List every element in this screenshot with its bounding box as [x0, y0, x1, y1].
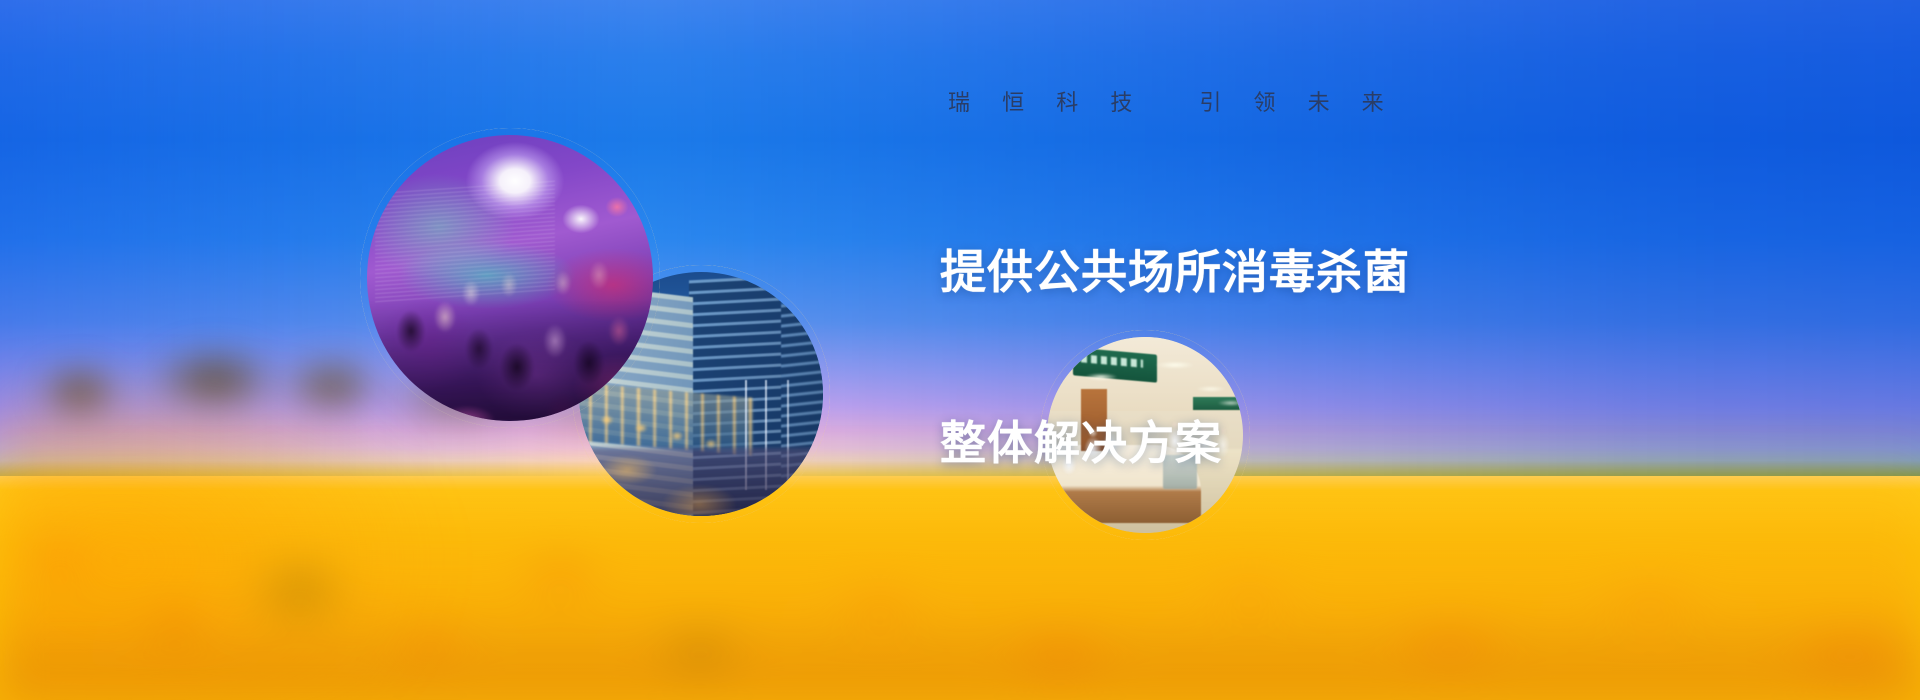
eyebrow-slogan: 引 领 未 来 [1199, 92, 1396, 114]
eyebrow-brand: 瑞 恒 科 技 [948, 92, 1145, 114]
banner-copy: 瑞 恒 科 技 引 领 未 来 提供公共场所消毒杀菌 整体解决方案 [940, 92, 1410, 586]
hero-banner: 瑞 恒 科 技 引 领 未 来 提供公共场所消毒杀菌 整体解决方案 [0, 0, 1920, 700]
headline-line-2: 整体解决方案 [940, 415, 1410, 472]
banner-headline: 提供公共场所消毒杀菌 整体解决方案 [940, 130, 1410, 586]
banner-eyebrow: 瑞 恒 科 技 引 领 未 来 [948, 92, 1410, 114]
headline-line-1: 提供公共场所消毒杀菌 [940, 244, 1410, 301]
nightclub-photo [367, 135, 653, 421]
photo-circle-nightclub[interactable] [360, 128, 660, 428]
nightclub-crowd [367, 135, 653, 421]
